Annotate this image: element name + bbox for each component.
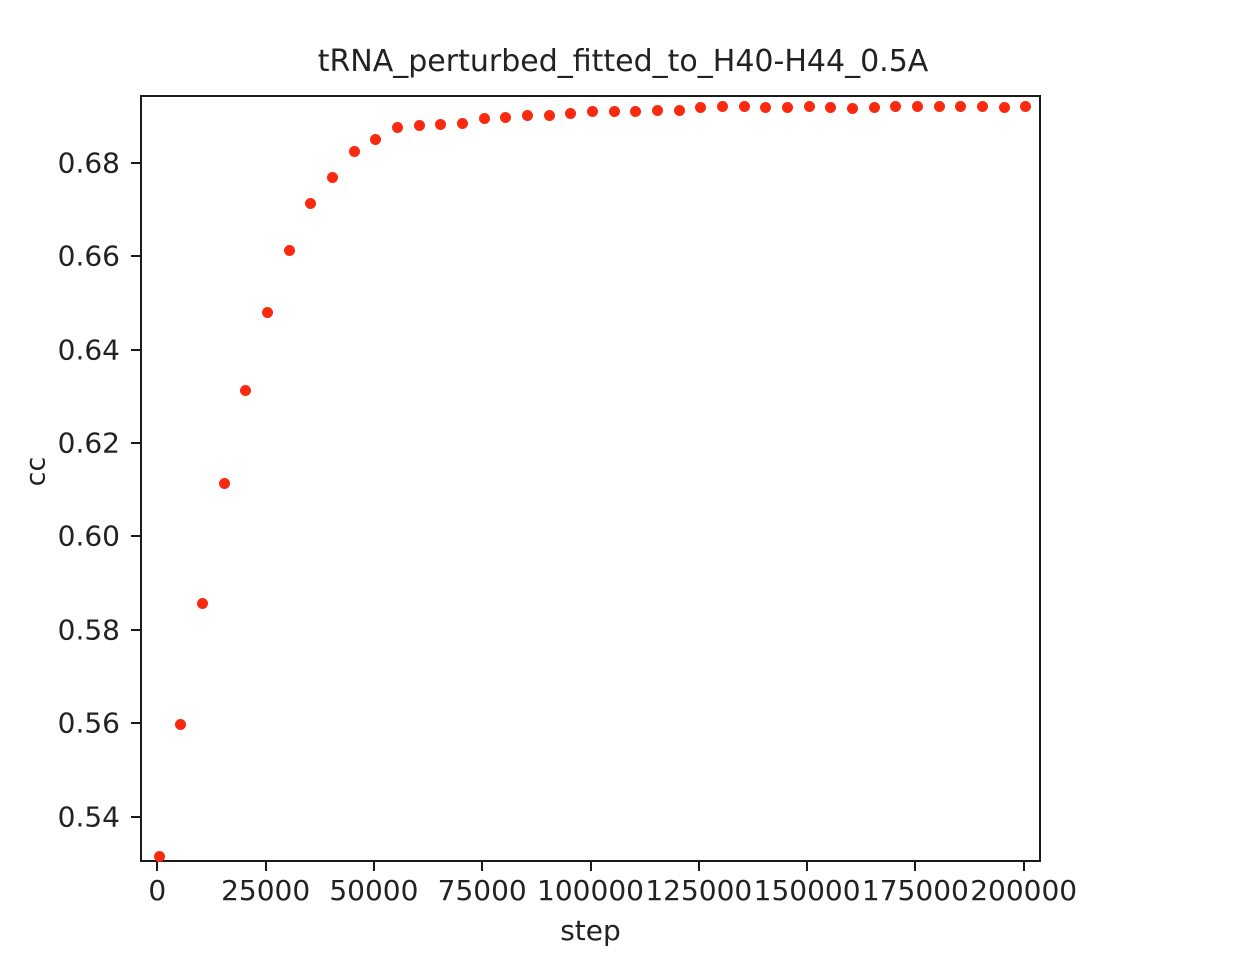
- data-point: [652, 105, 663, 116]
- data-point: [760, 102, 771, 113]
- data-point: [695, 102, 706, 113]
- x-tick-mark: [1023, 862, 1025, 871]
- data-point: [565, 108, 576, 119]
- data-point: [435, 119, 446, 130]
- data-point: [804, 101, 815, 112]
- data-point: [955, 101, 966, 112]
- plot-axes: [140, 95, 1041, 862]
- data-point: [240, 385, 251, 396]
- y-tick-label: 0.66: [28, 240, 120, 273]
- data-point: [869, 102, 880, 113]
- data-point: [587, 106, 598, 117]
- x-tick-mark: [156, 862, 158, 871]
- data-point: [392, 122, 403, 133]
- x-tick-label: 100000: [537, 874, 644, 907]
- x-tick-label: 150000: [754, 874, 861, 907]
- data-point: [1020, 101, 1031, 112]
- data-point: [522, 110, 533, 121]
- y-tick-label: 0.60: [28, 520, 120, 553]
- y-tick-label: 0.56: [28, 707, 120, 740]
- y-tick-label: 0.68: [28, 146, 120, 179]
- x-tick-mark: [590, 862, 592, 871]
- y-tick-mark: [131, 442, 140, 444]
- x-tick-label: 75000: [438, 874, 527, 907]
- data-point: [630, 106, 641, 117]
- data-point: [262, 307, 273, 318]
- y-axis-label: cc: [21, 422, 52, 522]
- data-point: [327, 172, 338, 183]
- x-tick-label: 200000: [970, 874, 1077, 907]
- x-tick-mark: [373, 862, 375, 871]
- data-point: [175, 719, 186, 730]
- x-tick-label: 0: [148, 874, 166, 907]
- chart-title: tRNA_perturbed_fitted_to_H40-H44_0.5A: [0, 44, 1246, 79]
- data-point: [977, 101, 988, 112]
- y-tick-mark: [131, 816, 140, 818]
- x-tick-mark: [265, 862, 267, 871]
- data-point: [825, 102, 836, 113]
- y-tick-mark: [131, 535, 140, 537]
- data-point: [934, 101, 945, 112]
- scatter-plot-area: [142, 97, 1043, 864]
- x-tick-mark: [698, 862, 700, 871]
- data-point: [479, 113, 490, 124]
- data-point: [674, 105, 685, 116]
- y-tick-mark: [131, 629, 140, 631]
- y-tick-label: 0.58: [28, 613, 120, 646]
- data-point: [500, 112, 511, 123]
- data-point: [284, 245, 295, 256]
- y-tick-mark: [131, 255, 140, 257]
- data-point: [349, 146, 360, 157]
- data-point: [457, 118, 468, 129]
- data-point: [717, 101, 728, 112]
- data-point: [609, 106, 620, 117]
- y-tick-mark: [131, 722, 140, 724]
- x-tick-mark: [914, 862, 916, 871]
- y-tick-mark: [131, 162, 140, 164]
- data-point: [999, 102, 1010, 113]
- data-point: [890, 101, 901, 112]
- data-point: [544, 110, 555, 121]
- y-tick-label: 0.54: [28, 800, 120, 833]
- chart-figure: tRNA_perturbed_fitted_to_H40-H44_0.5A 0.…: [0, 0, 1246, 965]
- x-tick-label: 50000: [329, 874, 418, 907]
- x-tick-label: 125000: [645, 874, 752, 907]
- data-point: [154, 851, 165, 862]
- data-point: [739, 101, 750, 112]
- data-point: [414, 120, 425, 131]
- data-point: [847, 103, 858, 114]
- x-axis-label: step: [140, 914, 1041, 947]
- x-tick-mark: [481, 862, 483, 871]
- data-point: [782, 102, 793, 113]
- y-tick-label: 0.64: [28, 333, 120, 366]
- x-tick-label: 25000: [221, 874, 310, 907]
- data-point: [219, 478, 230, 489]
- data-point: [197, 598, 208, 609]
- data-point: [370, 134, 381, 145]
- data-point: [305, 198, 316, 209]
- y-tick-mark: [131, 349, 140, 351]
- x-tick-mark: [806, 862, 808, 871]
- data-point: [912, 101, 923, 112]
- x-tick-label: 175000: [862, 874, 969, 907]
